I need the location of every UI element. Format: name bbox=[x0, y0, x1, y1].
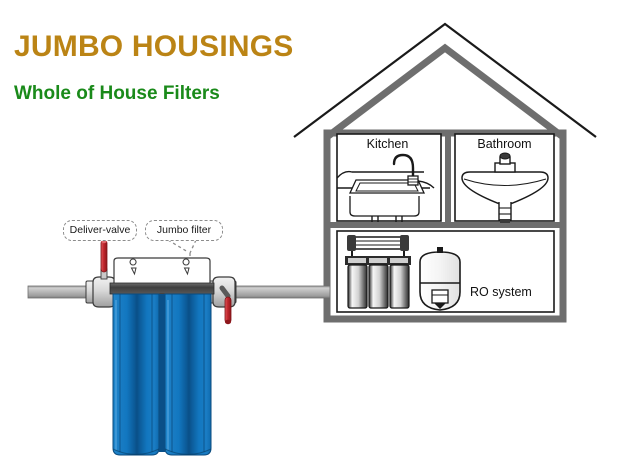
callout-jumbo-filter: Jumbo filter bbox=[145, 220, 223, 241]
house-illustration bbox=[294, 24, 596, 319]
page-subtitle: Whole of House Filters bbox=[14, 83, 220, 105]
ro-system-icon bbox=[345, 235, 411, 308]
slide-canvas: JUMBO HOUSINGS Whole of House Filters De… bbox=[0, 0, 621, 469]
inlet-ball-valve bbox=[86, 239, 116, 307]
room-label-kitchen: Kitchen bbox=[345, 137, 430, 151]
jumbo-filter-unit bbox=[110, 258, 214, 455]
callout-deliver-valve: Deliver-valve bbox=[63, 220, 137, 241]
ro-pressure-tank-icon bbox=[420, 247, 460, 310]
room-label-bathroom: Bathroom bbox=[457, 137, 552, 151]
label-ro-system: RO system bbox=[470, 285, 560, 299]
page-title: JUMBO HOUSINGS bbox=[14, 30, 294, 64]
